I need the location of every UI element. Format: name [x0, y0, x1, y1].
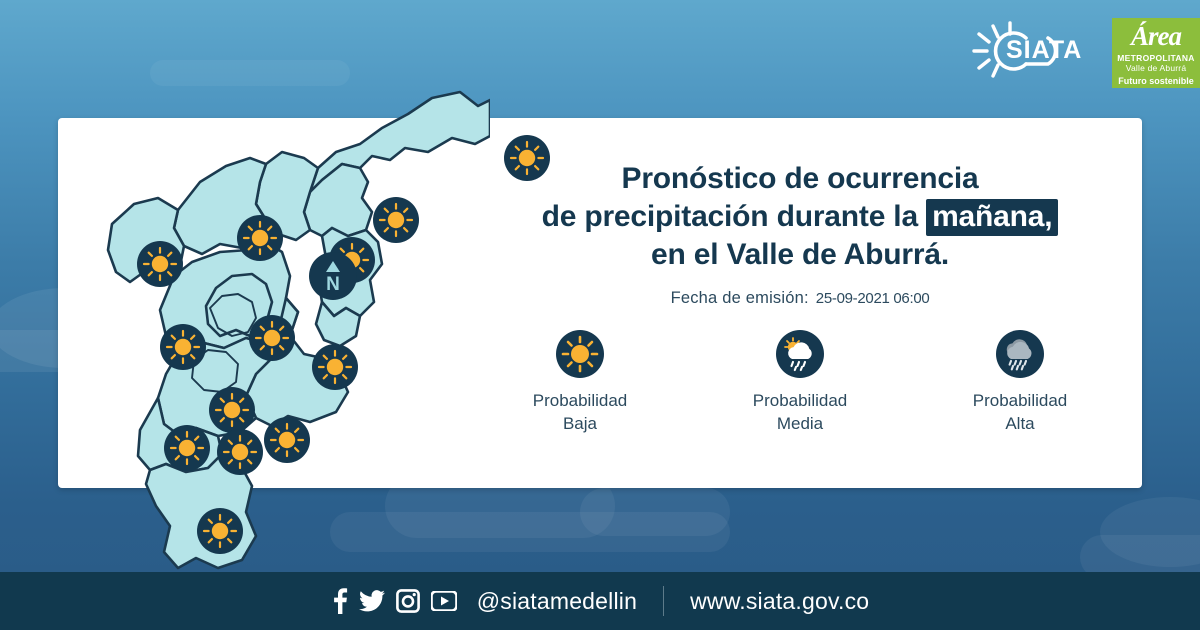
title-line-3: en el Valle de Aburrá. — [470, 236, 1130, 274]
brand-logos: SIATA Área METROPOLITANA Valle de Aburrá… — [962, 18, 1200, 88]
map-marker-bello — [237, 215, 283, 261]
probability-legend: Probabilidad Baja — [470, 330, 1130, 435]
legend-item-alta: Probabilidad Alta — [930, 330, 1110, 435]
map-marker-sabaneta — [217, 429, 263, 475]
map-polygons — [60, 40, 490, 570]
footer-bar: @siatamedellin www.siata.gov.co — [0, 572, 1200, 630]
legend-label-line1: Probabilidad — [753, 390, 848, 413]
youtube-icon[interactable] — [431, 591, 457, 611]
website-url[interactable]: www.siata.gov.co — [690, 588, 869, 615]
siata-logo: SIATA — [962, 18, 1102, 84]
map-marker-girardota — [373, 197, 419, 243]
map-marker-guarne — [312, 344, 358, 390]
area-metropolitana-logo: Área METROPOLITANA Valle de Aburrá Futur… — [1112, 18, 1200, 88]
rain-cloud-icon — [996, 330, 1044, 378]
footer-divider — [663, 586, 664, 616]
legend-label-line1: Probabilidad — [533, 390, 628, 413]
title-line-2-text: de precipitación durante la — [542, 200, 927, 233]
issue-date-row: Fecha de emisión: 25-09-2021 06:00 — [470, 289, 1130, 308]
map-marker-san-jeronimo — [160, 324, 206, 370]
area-line1: METROPOLITANA — [1117, 53, 1194, 63]
facebook-icon[interactable] — [331, 588, 348, 614]
valle-de-aburra-map — [60, 40, 490, 570]
instagram-icon[interactable] — [396, 589, 420, 613]
map-marker-itagui — [209, 387, 255, 433]
map-marker-san-pedro — [137, 241, 183, 287]
compass-label: N — [326, 274, 340, 295]
area-line2: Valle de Aburrá — [1126, 63, 1187, 73]
twitter-icon[interactable] — [359, 590, 385, 612]
sun-icon — [556, 330, 604, 378]
social-handle[interactable]: @siatamedellin — [477, 588, 637, 615]
legend-label-alta: Probabilidad Alta — [973, 390, 1068, 435]
title-line-1: Pronóstico de ocurrencia — [470, 160, 1130, 198]
map-marker-la-estrella — [164, 425, 210, 471]
title-highlight: mañana, — [926, 199, 1058, 236]
compass-rose: N — [309, 252, 357, 300]
legend-item-baja: Probabilidad Baja — [490, 330, 670, 435]
legend-label-baja: Probabilidad Baja — [533, 390, 628, 435]
page-title: Pronóstico de ocurrencia de precipitació… — [470, 160, 1130, 273]
legend-label-line2: Media — [753, 413, 848, 436]
forecast-panel: Pronóstico de ocurrencia de precipitació… — [470, 160, 1130, 308]
map-marker-caldas — [197, 508, 243, 554]
legend-label-line2: Baja — [533, 413, 628, 436]
social-links[interactable] — [331, 588, 457, 614]
legend-item-media: Probabilidad Media — [710, 330, 890, 435]
sun-rain-cloud-icon — [776, 330, 824, 378]
map-marker-medellin — [249, 315, 295, 361]
area-script-label: Área — [1131, 23, 1181, 50]
siata-wordmark: SIATA — [1006, 36, 1082, 65]
legend-label-line2: Alta — [973, 413, 1068, 436]
issue-date-label: Fecha de emisión: — [671, 289, 809, 308]
north-arrow-icon: N — [309, 252, 357, 300]
map-marker-envigado — [264, 417, 310, 463]
title-line-2: de precipitación durante la mañana, — [470, 198, 1130, 236]
area-line3: Futuro sostenible — [1118, 76, 1194, 86]
issue-date-value: 25-09-2021 06:00 — [816, 290, 930, 307]
legend-label-line1: Probabilidad — [973, 390, 1068, 413]
legend-label-media: Probabilidad Media — [753, 390, 848, 435]
